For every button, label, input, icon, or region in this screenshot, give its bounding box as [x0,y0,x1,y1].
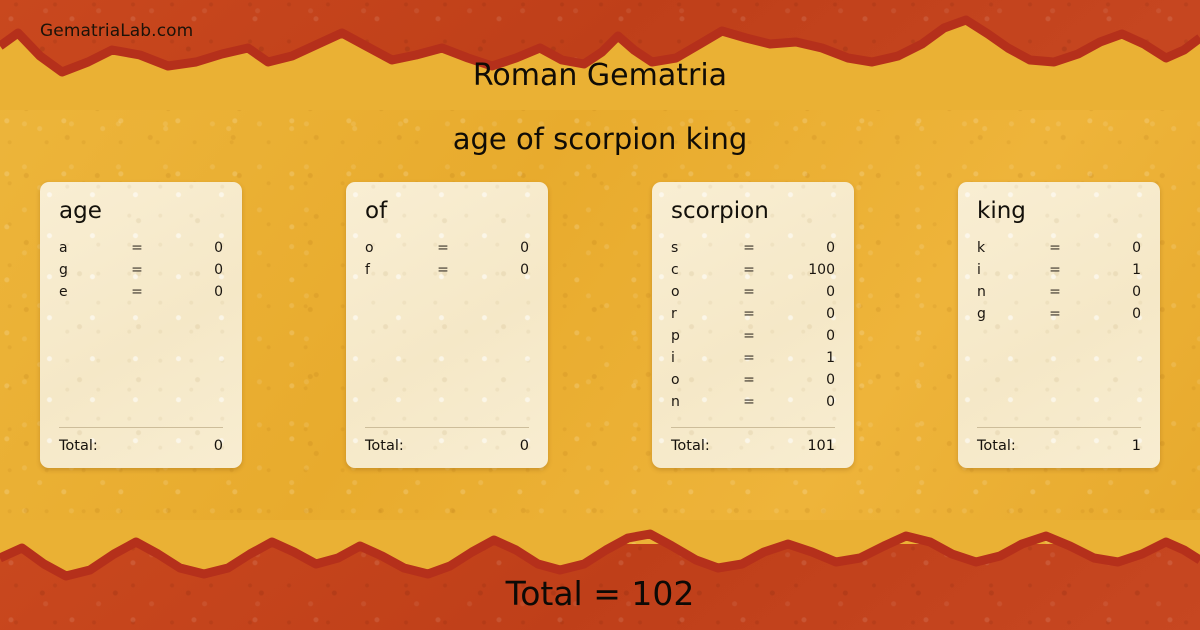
equals-sign: = [1049,240,1082,256]
letter-char: c [671,262,743,278]
letter-row: r=0 [671,306,835,328]
letter-value: 0 [470,240,529,256]
letter-char: a [59,240,131,256]
letter-value: 0 [776,372,835,388]
letter-value: 0 [776,328,835,344]
letter-char: g [59,262,131,278]
equals-sign: = [743,284,776,300]
letter-value: 0 [164,240,223,256]
letter-row: p=0 [671,328,835,350]
word-card-total: Total:0 [365,427,529,454]
letter-char: o [671,372,743,388]
equals-sign: = [437,240,470,256]
letter-value-list: k=0i=1n=0g=0 [977,240,1141,421]
equals-sign: = [743,394,776,410]
letter-row: s=0 [671,240,835,262]
word-card-title: age [59,200,223,223]
equals-sign: = [131,284,164,300]
equals-sign: = [1049,306,1082,322]
letter-value: 0 [1082,284,1141,300]
word-card-total-label: Total: [977,438,1016,454]
letter-row: g=0 [59,262,223,284]
word-card-total: Total:1 [977,427,1141,454]
letter-value: 100 [776,262,835,278]
equals-sign: = [131,262,164,278]
word-card-total-label: Total: [365,438,404,454]
letter-row: f=0 [365,262,529,284]
word-card: scorpions=0c=100o=0r=0p=0i=1o=0n=0Total:… [652,182,854,468]
word-card-total: Total:101 [671,427,835,454]
equals-sign: = [743,262,776,278]
word-card-total-value: 101 [807,438,835,454]
letter-value: 0 [164,262,223,278]
letter-char: s [671,240,743,256]
letter-value: 1 [1082,262,1141,278]
letter-row: o=0 [671,372,835,394]
letter-char: k [977,240,1049,256]
word-card: agea=0g=0e=0Total:0 [40,182,242,468]
letter-row: o=0 [365,240,529,262]
letter-char: o [671,284,743,300]
letter-char: o [365,240,437,256]
word-card: kingk=0i=1n=0g=0Total:1 [958,182,1160,468]
gematria-card-canvas: GematriaLab.com Roman Gematria age of sc… [0,0,1200,630]
letter-char: n [671,394,743,410]
letter-char: i [977,262,1049,278]
equals-sign: = [743,306,776,322]
letter-char: p [671,328,743,344]
word-card-total-label: Total: [671,438,710,454]
equals-sign: = [743,240,776,256]
letter-value: 0 [776,240,835,256]
letter-value-list: o=0f=0 [365,240,529,421]
word-card-total: Total:0 [59,427,223,454]
letter-row: i=1 [977,262,1141,284]
letter-value: 0 [164,284,223,300]
word-card: ofo=0f=0Total:0 [346,182,548,468]
site-brand-watermark: GematriaLab.com [40,21,193,41]
letter-char: i [671,350,743,366]
letter-value: 0 [470,262,529,278]
letter-char: r [671,306,743,322]
page-title: Roman Gematria [0,58,1200,93]
letter-value: 0 [776,306,835,322]
letter-value: 0 [1082,240,1141,256]
equals-sign: = [743,372,776,388]
equals-sign: = [1049,284,1082,300]
letter-row: e=0 [59,284,223,306]
letter-row: n=0 [671,394,835,416]
equals-sign: = [437,262,470,278]
letter-char: f [365,262,437,278]
letter-value: 0 [1082,306,1141,322]
letter-row: g=0 [977,306,1141,328]
equals-sign: = [743,328,776,344]
word-card-total-value: 0 [520,438,529,454]
letter-value-list: a=0g=0e=0 [59,240,223,421]
grand-total: Total = 102 [0,574,1200,613]
equals-sign: = [131,240,164,256]
letter-char: n [977,284,1049,300]
word-cards-row: agea=0g=0e=0Total:0ofo=0f=0Total:0scorpi… [40,182,1160,470]
letter-char: g [977,306,1049,322]
letter-value: 0 [776,284,835,300]
word-card-total-value: 0 [214,438,223,454]
equals-sign: = [1049,262,1082,278]
letter-value-list: s=0c=100o=0r=0p=0i=1o=0n=0 [671,240,835,421]
letter-row: c=100 [671,262,835,284]
letter-row: i=1 [671,350,835,372]
letter-row: a=0 [59,240,223,262]
word-card-title: scorpion [671,200,835,223]
phrase-subtitle: age of scorpion king [0,122,1200,156]
letter-value: 0 [776,394,835,410]
letter-row: n=0 [977,284,1141,306]
word-card-total-label: Total: [59,438,98,454]
letter-row: o=0 [671,284,835,306]
letter-row: k=0 [977,240,1141,262]
word-card-title: of [365,200,529,223]
equals-sign: = [743,350,776,366]
word-card-total-value: 1 [1132,438,1141,454]
letter-char: e [59,284,131,300]
word-card-title: king [977,200,1141,223]
top-torn-edge [0,0,1200,110]
letter-value: 1 [776,350,835,366]
